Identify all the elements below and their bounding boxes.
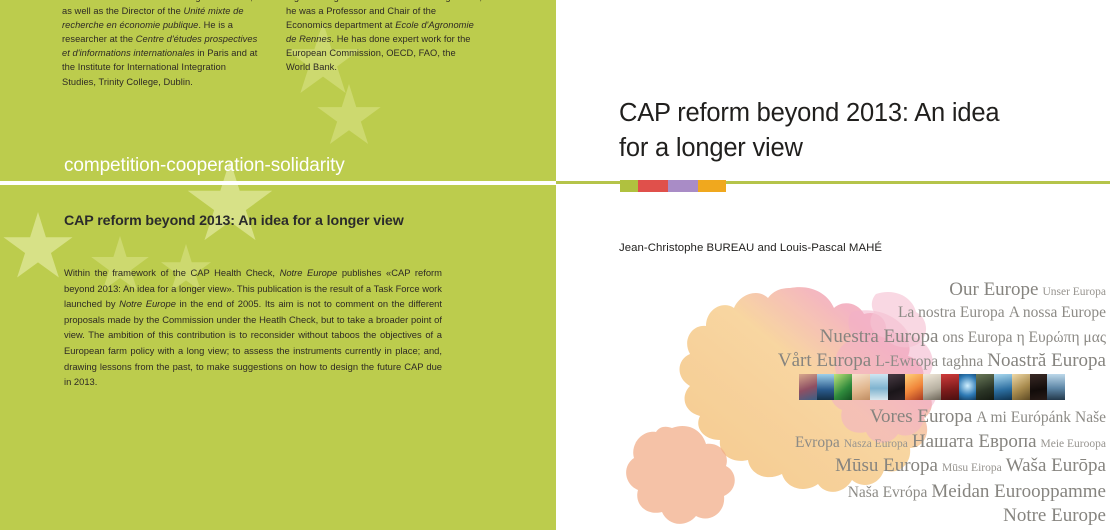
back-cover-title: CAP reform beyond 2013: An idea for a lo… — [64, 213, 484, 229]
word-cloud-term: Нашата Европа — [912, 431, 1037, 452]
photo-thumb — [994, 374, 1012, 400]
word-cloud-term: Nuestra Europa — [820, 326, 939, 347]
swatch-amber — [698, 180, 726, 192]
word-cloud-line: Naša Evrópa Meidan Eurooppamme — [848, 482, 1106, 501]
word-cloud-term: Waša Eurōpa — [1006, 455, 1106, 476]
back-cover-blurb: Within the framework of the CAP Health C… — [64, 265, 442, 390]
bio-column-left: is a teacher and researcher at AgroParis… — [62, 0, 258, 89]
word-cloud-term: Meie Euroopa — [1041, 438, 1106, 450]
word-cloud-term: Our Europe — [949, 279, 1038, 300]
word-cloud-term: Evropa — [795, 434, 840, 451]
swatch-green — [620, 180, 638, 192]
word-cloud-term: A mi Európánk — [976, 409, 1071, 426]
word-cloud-line: Our Europe Unser Europa — [949, 280, 1106, 299]
word-cloud-line: Nuestra Europa ons Europa η Ευρώπη μας — [820, 327, 1106, 346]
photo-thumb — [870, 374, 888, 400]
cover-spread: is a teacher and researcher at AgroParis… — [0, 0, 1110, 530]
cover-title-line-1: CAP reform beyond 2013: An idea — [619, 99, 999, 127]
word-cloud-term: Mūsu Europa — [835, 455, 938, 476]
photo-thumb — [1030, 374, 1048, 400]
swatch-purple — [668, 180, 698, 192]
white-divider-rule — [0, 181, 556, 185]
word-cloud-term: Naša Evrópa — [848, 484, 928, 501]
word-cloud-term: Nasza Europa — [844, 438, 908, 450]
photo-thumb — [817, 374, 835, 400]
photo-thumb — [976, 374, 994, 400]
photo-thumb — [905, 374, 923, 400]
bio-text-mahe: Ingénieur Agronome. From 1989 through 19… — [286, 0, 482, 75]
bio-column-right: Ingénieur Agronome. From 1989 through 19… — [286, 0, 482, 89]
word-cloud-term: η Ευρώπη μας — [1017, 329, 1106, 346]
photo-thumb — [959, 374, 977, 400]
word-cloud-term: La nostra Europa — [898, 304, 1005, 321]
word-cloud-term: Unser Europa — [1042, 286, 1106, 298]
word-cloud-term: L-Ewropa taghna — [875, 353, 983, 370]
photo-thumb — [941, 374, 959, 400]
eu-star-decoration — [316, 84, 382, 150]
cover-artwork: Our Europe Unser Europa La nostra Europa… — [556, 272, 1110, 530]
cover-title-line-2: for a longer view — [619, 134, 803, 162]
word-cloud-term: Meidan Eurooppamme — [931, 481, 1106, 502]
back-cover-panel: is a teacher and researcher at AgroParis… — [0, 0, 556, 530]
word-cloud-term: A nossa Europe — [1009, 304, 1106, 321]
photo-thumb — [852, 374, 870, 400]
word-cloud-term: Vårt Europa — [778, 350, 871, 371]
cover-authors: Jean-Christophe BUREAU and Louis-Pascal … — [619, 242, 882, 254]
word-cloud-term: Naše — [1075, 409, 1106, 426]
word-cloud-term: Notre Europe — [1003, 505, 1106, 526]
front-cover-panel: CAP reform beyond 2013: An idea for a lo… — [556, 0, 1110, 530]
word-cloud-term: Vores Europa — [870, 406, 973, 427]
photo-thumb — [799, 374, 817, 400]
photo-strip — [799, 374, 1065, 400]
brand-tagline: competition-cooperation-solidarity — [64, 155, 345, 177]
word-cloud-line: Vores Europa A mi Európánk Naše — [870, 407, 1106, 426]
word-cloud-term: Mūsu Eiropa — [942, 462, 1002, 474]
swatch-red — [638, 180, 668, 192]
bio-text-bureau: is a teacher and researcher at AgroParis… — [62, 0, 258, 89]
word-cloud-line: Vårt Europa L-Ewropa taghna Noastră Euro… — [778, 351, 1106, 370]
word-cloud-line: Evropa Nasza Europa Нашата Европа Meie E… — [795, 432, 1106, 451]
word-cloud-line: La nostra Europa A nossa Europe — [898, 305, 1106, 321]
cover-title: CAP reform beyond 2013: An idea for a lo… — [619, 96, 1064, 166]
word-cloud-line: Notre Europe — [1003, 506, 1106, 525]
photo-thumb — [888, 374, 906, 400]
word-cloud-term: ons Europa — [942, 329, 1012, 346]
word-cloud-term: Noastră Europa — [987, 350, 1106, 371]
photo-thumb — [923, 374, 941, 400]
author-biographies: is a teacher and researcher at AgroParis… — [62, 0, 482, 89]
word-cloud-line: Mūsu Europa Mūsu Eiropa Waša Eurōpa — [835, 456, 1106, 475]
photo-thumb — [1047, 374, 1065, 400]
photo-thumb — [834, 374, 852, 400]
color-swatch-bar — [620, 180, 726, 192]
photo-thumb — [1012, 374, 1030, 400]
